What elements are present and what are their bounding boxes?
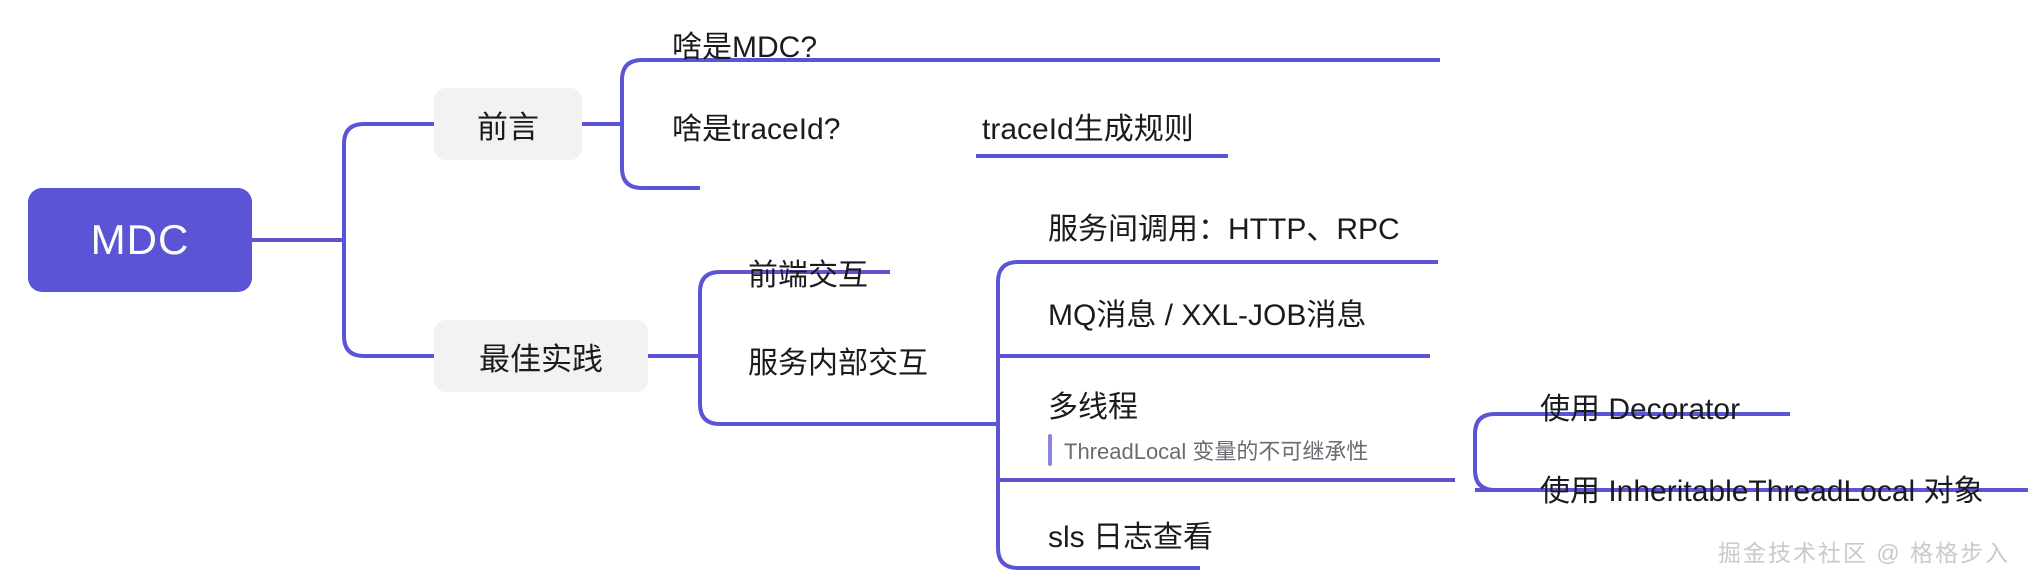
node-service-internal-interaction[interactable]: 服务内部交互 [748,334,928,386]
node-use-inheritable-threadlocal-label: 使用 InheritableThreadLocal 对象 [1540,466,1984,510]
node-what-is-traceid[interactable]: 啥是traceId? [672,100,840,152]
node-branch-preface[interactable]: 前言 [434,88,582,160]
node-threadlocal-note-label: ThreadLocal 变量的不可继承性 [1064,434,1368,466]
node-what-is-traceid-label: 啥是traceId? [672,104,840,148]
node-sls-log-label: sls 日志查看 [1048,512,1213,556]
node-traceid-rule-label: traceId生成规则 [982,104,1194,148]
watermark-label: 掘金技术社区 @ 格格步入 [1718,540,2010,566]
node-branch-preface-label: 前言 [477,102,539,147]
node-branch-best-practice-label: 最佳实践 [479,334,603,379]
node-service-internal-interaction-label: 服务内部交互 [748,338,928,382]
node-service-call[interactable]: 服务间调用：HTTP、RPC [1048,200,1400,252]
node-frontend-interaction-label: 前端交互 [748,250,868,294]
mindmap-canvas: MDC 前言 啥是MDC? 啥是traceId? traceId生成规则 最佳实… [0,0,2040,584]
node-traceid-rule[interactable]: traceId生成规则 [982,100,1194,152]
node-root-label: MDC [91,216,190,264]
node-mq-message-label: MQ消息 / XXL-JOB消息 [1048,290,1366,334]
node-use-inheritable-threadlocal[interactable]: 使用 InheritableThreadLocal 对象 [1540,462,1984,514]
node-frontend-interaction[interactable]: 前端交互 [748,246,868,298]
node-root-mdc[interactable]: MDC [28,188,252,292]
node-multithread[interactable]: 多线程 [1048,378,1138,430]
node-service-call-label: 服务间调用：HTTP、RPC [1048,204,1400,248]
node-branch-best-practice[interactable]: 最佳实践 [434,320,648,392]
node-what-is-mdc[interactable]: 啥是MDC? [672,18,817,70]
node-use-decorator[interactable]: 使用 Decorator [1540,380,1740,432]
watermark: 掘金技术社区 @ 格格步入 [1718,534,2010,568]
node-multithread-label: 多线程 [1048,382,1138,426]
note-accent-bar [1048,434,1052,466]
node-mq-message[interactable]: MQ消息 / XXL-JOB消息 [1048,286,1366,338]
node-threadlocal-note[interactable]: ThreadLocal 变量的不可继承性 [1048,432,1368,468]
node-sls-log[interactable]: sls 日志查看 [1048,508,1213,560]
node-what-is-mdc-label: 啥是MDC? [672,22,817,66]
node-use-decorator-label: 使用 Decorator [1540,384,1740,428]
